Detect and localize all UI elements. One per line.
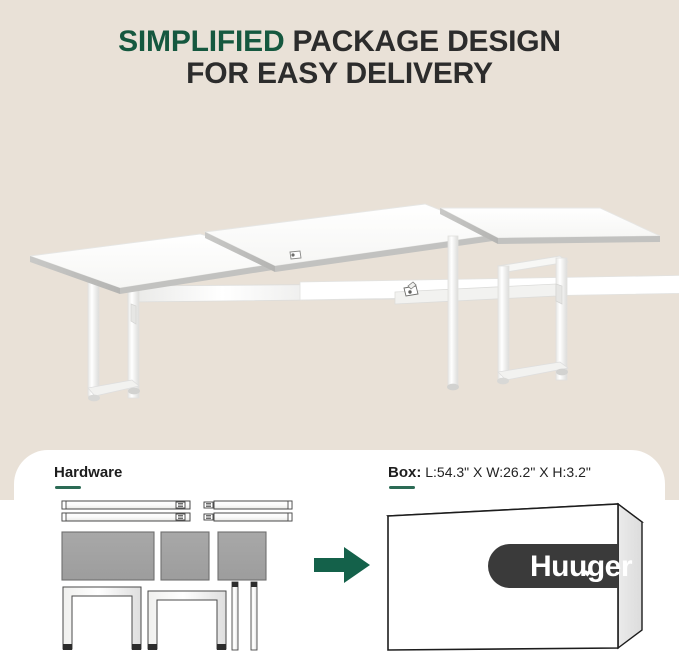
hardware-leg-frames <box>63 587 226 650</box>
green-arrow-icon <box>310 542 374 588</box>
box-accent-rule <box>389 486 415 489</box>
desk-leg-frame-right <box>497 256 568 384</box>
headline-line-1: SIMPLIFIED PACKAGE DESIGN <box>0 26 679 58</box>
box-heading: Box: L:54.3" X W:26.2" X H:3.2" <box>388 464 591 481</box>
hardware-parts-diagram <box>44 494 334 654</box>
brand-name: Huuger <box>530 550 633 583</box>
details-card: Hardware Box: L:54.3" X W:26.2" X H:3.2" <box>14 450 665 660</box>
package-box-illustration: Huuger <box>380 498 656 656</box>
short-rail-bolt-glyph <box>204 502 213 520</box>
box-label: Box: <box>388 464 421 481</box>
headline-line-1-rest: PACKAGE DESIGN <box>284 25 560 58</box>
headline-highlight: SIMPLIFIED <box>118 25 284 58</box>
box-dimensions: L:54.3" X W:26.2" X H:3.2" <box>421 464 591 480</box>
hardware-accent-rule <box>55 486 81 489</box>
headline-line-2: FOR EASY DELIVERY <box>0 58 679 90</box>
hardware-panels <box>62 532 266 580</box>
hardware-heading: Hardware <box>54 464 122 481</box>
hardware-posts <box>232 582 257 650</box>
hero-section: SIMPLIFIED PACKAGE DESIGN FOR EASY DELIV… <box>0 0 679 500</box>
hardware-short-rails <box>204 501 292 521</box>
desk-center-post <box>447 236 459 390</box>
hardware-long-rails <box>62 501 190 521</box>
rail-bolt-glyph <box>176 502 185 520</box>
desk-illustration <box>0 96 679 426</box>
page-title: SIMPLIFIED PACKAGE DESIGN FOR EASY DELIV… <box>0 26 679 91</box>
brand-badge: Huuger <box>488 544 633 588</box>
infographic-page: SIMPLIFIED PACKAGE DESIGN FOR EASY DELIV… <box>0 0 679 660</box>
